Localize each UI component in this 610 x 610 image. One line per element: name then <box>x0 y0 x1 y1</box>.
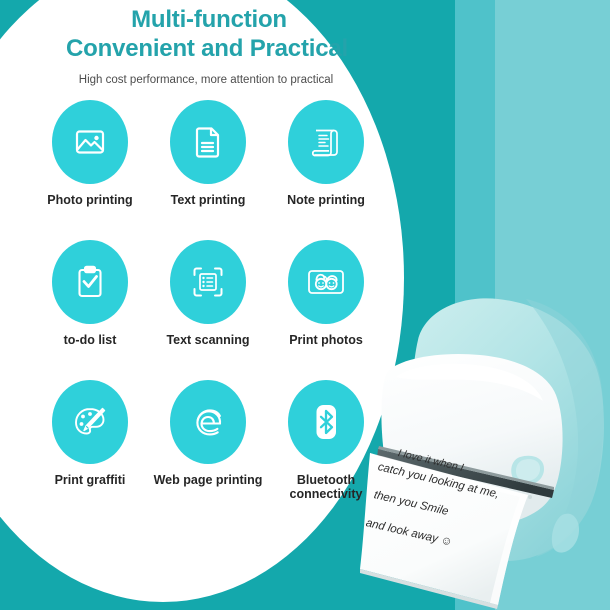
scroll-note-icon <box>308 124 344 160</box>
clipboard-check-icon <box>73 264 107 300</box>
feature-icon-bubble <box>288 100 364 184</box>
feature-icon-bubble <box>170 100 246 184</box>
feature-icon-bubble <box>52 380 128 464</box>
product-printer-image <box>330 285 610 610</box>
feature-icon-bubble <box>52 100 128 184</box>
feature-label: to-do list <box>64 333 117 347</box>
palette-brush-icon <box>71 403 109 441</box>
feature-icon-bubble <box>170 240 246 324</box>
feature-item-text-printing[interactable]: Text printing <box>149 100 267 240</box>
feature-item-photo-printing[interactable]: Photo printing <box>31 100 149 240</box>
feature-label: Photo printing <box>47 193 132 207</box>
feature-icon-bubble <box>52 240 128 324</box>
photo-icon <box>72 124 108 160</box>
feature-label: Text printing <box>171 193 246 207</box>
feature-label: Note printing <box>287 193 365 207</box>
feature-icon-bubble <box>170 380 246 464</box>
document-icon <box>191 124 225 160</box>
feature-item-note-printing[interactable]: Note printing <box>267 100 385 240</box>
feature-item-print-graffiti[interactable]: Print graffiti <box>31 380 149 520</box>
feature-item-text-scanning[interactable]: Text scanning <box>149 240 267 380</box>
feature-label: Web page printing <box>154 473 263 487</box>
feature-label: Print graffiti <box>55 473 126 487</box>
page-title-line1: Multi-function <box>131 6 287 34</box>
feature-item-to-do-list[interactable]: to-do list <box>31 240 149 380</box>
page-subtitle: High cost performance, more attention to… <box>79 74 333 86</box>
page-title-line2: Convenient and Practical <box>66 34 348 63</box>
feature-label: Text scanning <box>166 333 249 347</box>
feature-item-web-page-printing[interactable]: Web page printing <box>149 380 267 520</box>
poster-stage: Multi-function Convenient and Practical … <box>0 0 610 610</box>
browser-e-icon <box>188 403 228 441</box>
scan-list-icon <box>190 264 226 300</box>
